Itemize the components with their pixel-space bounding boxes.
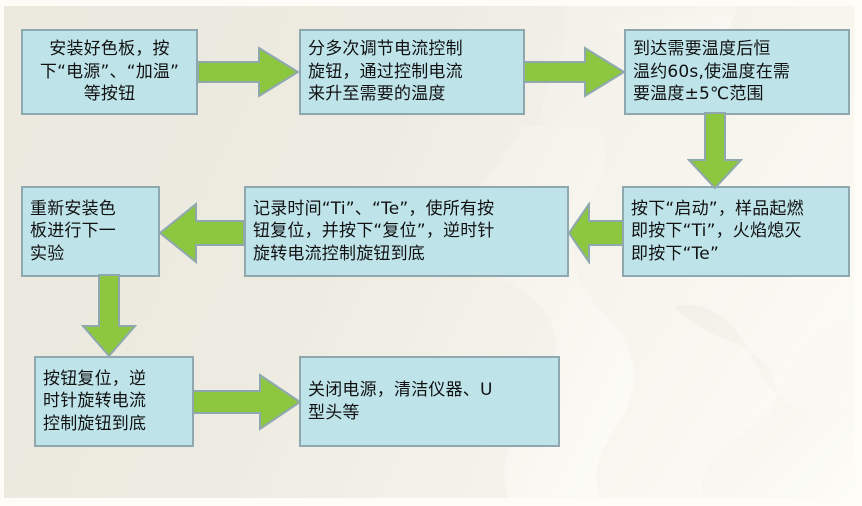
arrow-down-icon-n6-n7 — [81, 274, 137, 358]
flow-node-8-label: 关闭电源，清洁仪器、U 型头等 — [308, 379, 551, 424]
flow-node-1-label: 安装好色板，按 下“电源”、“加温” 等按钮 — [30, 38, 189, 106]
slide-background: 安装好色板，按 下“电源”、“加温” 等按钮 分多次调节电流控制 旋钮，通过控制… — [4, 6, 854, 498]
slide-frame-right — [854, 0, 862, 506]
flow-node-6-label: 重新安装色 板进行下一 实验 — [30, 198, 151, 266]
flow-node-5[interactable]: 记录时间“Ti”、“Te”，使所有按 钮复位，并按下“复位”，逆时针 旋转电流控… — [244, 186, 569, 277]
flowchart-canvas: 安装好色板，按 下“电源”、“加温” 等按钮 分多次调节电流控制 旋钮，通过控制… — [0, 0, 862, 506]
slide-frame-top — [0, 0, 862, 6]
flow-node-3-label: 到达需要温度后恒 温约60s,使温度在需 要温度±5℃范围 — [633, 38, 841, 106]
flow-node-5-label: 记录时间“Ti”、“Te”，使所有按 钮复位，并按下“复位”，逆时针 旋转电流控… — [253, 198, 560, 266]
flow-node-6[interactable]: 重新安装色 板进行下一 实验 — [21, 186, 160, 277]
slide-frame-left — [0, 0, 4, 506]
flow-node-1[interactable]: 安装好色板，按 下“电源”、“加温” 等按钮 — [21, 29, 198, 115]
flow-node-4[interactable]: 按下“启动”，样品起燃 即按下“Ti”，火焰熄灭 即按下“Te” — [622, 186, 850, 277]
flow-node-7-label: 按钮复位，逆 时针旋转电流 控制旋钮到底 — [43, 368, 185, 436]
flow-node-8[interactable]: 关闭电源，清洁仪器、U 型头等 — [299, 356, 560, 447]
arrow-right-icon-n7-n8 — [192, 373, 302, 431]
flow-node-2-label: 分多次调节电流控制 旋钮，通过控制电流 来升至需要的温度 — [308, 38, 516, 106]
flow-node-3[interactable]: 到达需要温度后恒 温约60s,使温度在需 要温度±5℃范围 — [624, 29, 850, 115]
arrow-left-icon-n4-n5 — [567, 202, 625, 264]
flow-node-4-label: 按下“启动”，样品起燃 即按下“Ti”，火焰熄灭 即按下“Te” — [631, 198, 841, 266]
flow-node-2[interactable]: 分多次调节电流控制 旋钮，通过控制电流 来升至需要的温度 — [299, 29, 525, 115]
flow-node-7[interactable]: 按钮复位，逆 时针旋转电流 控制旋钮到底 — [34, 356, 194, 447]
arrow-right-icon-n1-n2 — [197, 46, 300, 98]
slide-frame-bottom — [0, 498, 862, 506]
arrow-left-icon-n5-n6 — [158, 202, 246, 264]
arrow-down-icon-n3-n4 — [687, 112, 743, 190]
arrow-right-icon-n2-n3 — [523, 46, 626, 98]
